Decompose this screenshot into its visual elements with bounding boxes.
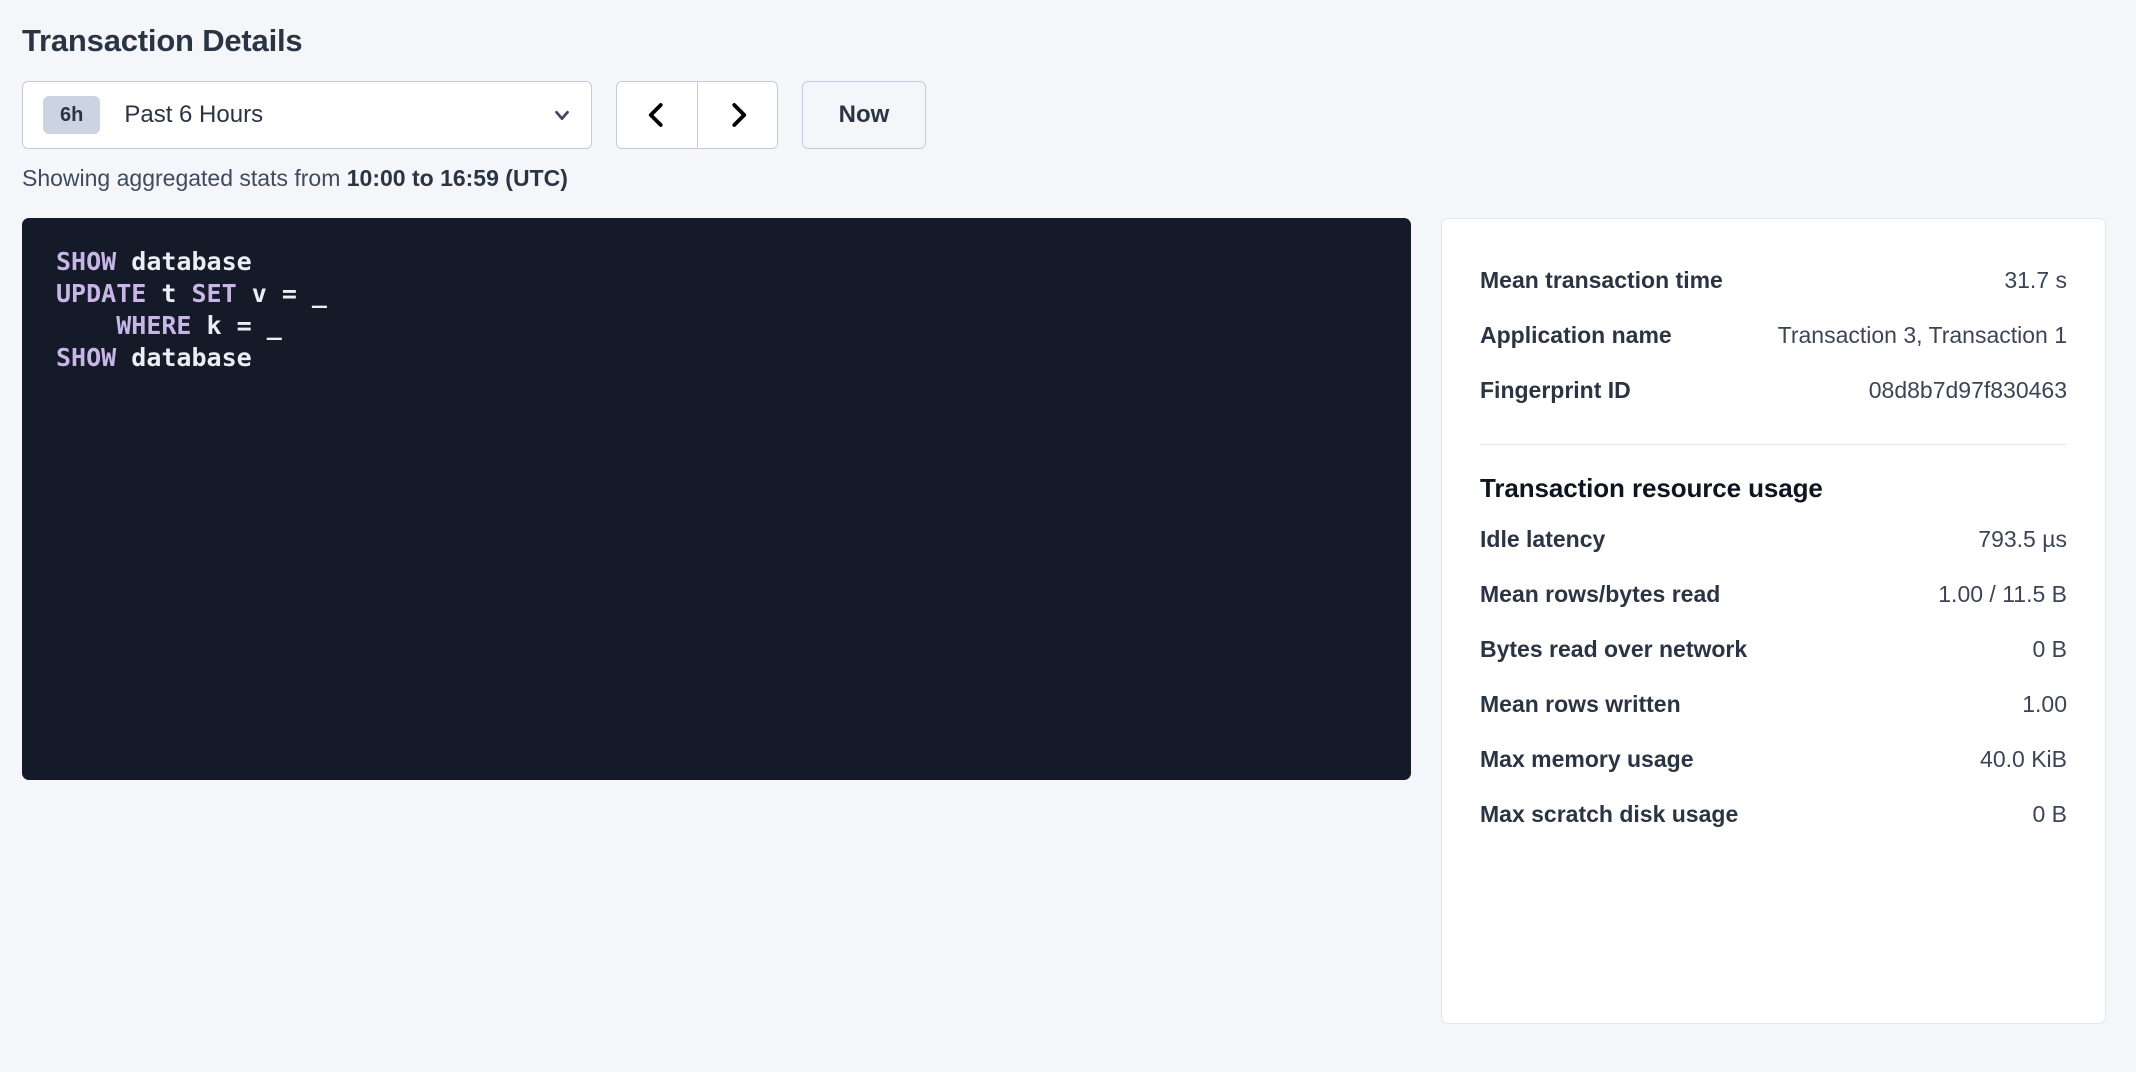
usage-row: Mean rows/bytes read1.00 / 11.5 B bbox=[1480, 567, 2067, 622]
transaction-details-page: Transaction Details 6h Past 6 Hours bbox=[0, 0, 2136, 1072]
aggregation-prefix: Showing aggregated stats from bbox=[22, 165, 347, 191]
toolbar: 6h Past 6 Hours bbox=[22, 81, 2106, 149]
sql-token: database bbox=[131, 247, 251, 276]
sql-token: database bbox=[131, 343, 251, 372]
usage-row: Mean rows written1.00 bbox=[1480, 677, 2067, 732]
chevron-down-icon bbox=[551, 104, 573, 126]
stat-label: Idle latency bbox=[1480, 526, 1605, 553]
sql-token bbox=[191, 311, 206, 340]
stat-label: Mean rows/bytes read bbox=[1480, 581, 1720, 608]
stat-label: Max scratch disk usage bbox=[1480, 801, 1738, 828]
stat-value: 1.00 bbox=[2022, 691, 2067, 718]
stat-value: 40.0 KiB bbox=[1980, 746, 2067, 773]
sql-token: k = _ bbox=[207, 311, 282, 340]
stat-value: 31.7 s bbox=[2004, 267, 2067, 294]
usage-row: Bytes read over network0 B bbox=[1480, 622, 2067, 677]
time-range-label: Past 6 Hours bbox=[124, 101, 551, 129]
sql-token bbox=[116, 343, 131, 372]
stat-value: 793.5 µs bbox=[1978, 526, 2067, 553]
time-range-dropdown[interactable]: 6h Past 6 Hours bbox=[22, 81, 592, 149]
stat-value: 08d8b7d97f830463 bbox=[1869, 377, 2067, 404]
stat-value: 1.00 / 11.5 B bbox=[1938, 581, 2067, 608]
sql-token: t bbox=[161, 279, 176, 308]
statistics-card: Mean transaction time31.7 sApplication n… bbox=[1441, 218, 2106, 1024]
time-range-badge: 6h bbox=[43, 96, 100, 134]
sql-token bbox=[56, 311, 116, 340]
content-row: SHOW database UPDATE t SET v = _ WHERE k… bbox=[22, 218, 2106, 1024]
sql-keyword: SHOW bbox=[56, 343, 116, 372]
sql-keyword: UPDATE bbox=[56, 279, 146, 308]
previous-period-button[interactable] bbox=[617, 82, 697, 148]
next-period-button[interactable] bbox=[697, 82, 777, 148]
sql-token bbox=[146, 279, 161, 308]
detail-row: Application nameTransaction 3, Transacti… bbox=[1480, 308, 2067, 363]
sql-token bbox=[237, 279, 252, 308]
sql-keyword: SET bbox=[192, 279, 237, 308]
usage-row: Idle latency793.5 µs bbox=[1480, 512, 2067, 567]
sql-code: SHOW database UPDATE t SET v = _ WHERE k… bbox=[56, 246, 1377, 374]
detail-row: Mean transaction time31.7 s bbox=[1480, 253, 2067, 308]
sql-keyword: SHOW bbox=[56, 247, 116, 276]
sql-statement-panel[interactable]: SHOW database UPDATE t SET v = _ WHERE k… bbox=[22, 218, 1411, 780]
aggregation-period-text: Showing aggregated stats from 10:00 to 1… bbox=[22, 164, 2106, 194]
detail-row: Fingerprint ID08d8b7d97f830463 bbox=[1480, 363, 2067, 418]
now-button[interactable]: Now bbox=[802, 81, 926, 149]
resource-usage-list: Idle latency793.5 µsMean rows/bytes read… bbox=[1480, 512, 2067, 842]
chevron-left-icon bbox=[642, 100, 672, 130]
aggregation-range: 10:00 to 16:59 (UTC) bbox=[347, 165, 568, 191]
stat-label: Max memory usage bbox=[1480, 746, 1693, 773]
stat-label: Mean transaction time bbox=[1480, 267, 1723, 294]
stat-label: Fingerprint ID bbox=[1480, 377, 1631, 404]
stat-value: 0 B bbox=[2032, 801, 2067, 828]
stat-label: Mean rows written bbox=[1480, 691, 1681, 718]
card-divider bbox=[1480, 444, 2067, 445]
usage-row: Max memory usage40.0 KiB bbox=[1480, 732, 2067, 787]
transaction-details-list: Mean transaction time31.7 sApplication n… bbox=[1480, 253, 2067, 418]
usage-row: Max scratch disk usage0 B bbox=[1480, 787, 2067, 842]
stat-value: 0 B bbox=[2032, 636, 2067, 663]
stat-label: Bytes read over network bbox=[1480, 636, 1747, 663]
sql-keyword: WHERE bbox=[116, 311, 191, 340]
time-nav-group bbox=[616, 81, 778, 149]
stat-value: Transaction 3, Transaction 1 bbox=[1778, 322, 2067, 349]
chevron-right-icon bbox=[723, 100, 753, 130]
sql-token bbox=[176, 279, 191, 308]
resource-usage-heading: Transaction resource usage bbox=[1480, 459, 2067, 512]
sql-token: v = _ bbox=[252, 279, 327, 308]
sql-token bbox=[116, 247, 131, 276]
stat-label: Application name bbox=[1480, 322, 1672, 349]
page-title: Transaction Details bbox=[22, 22, 2106, 59]
